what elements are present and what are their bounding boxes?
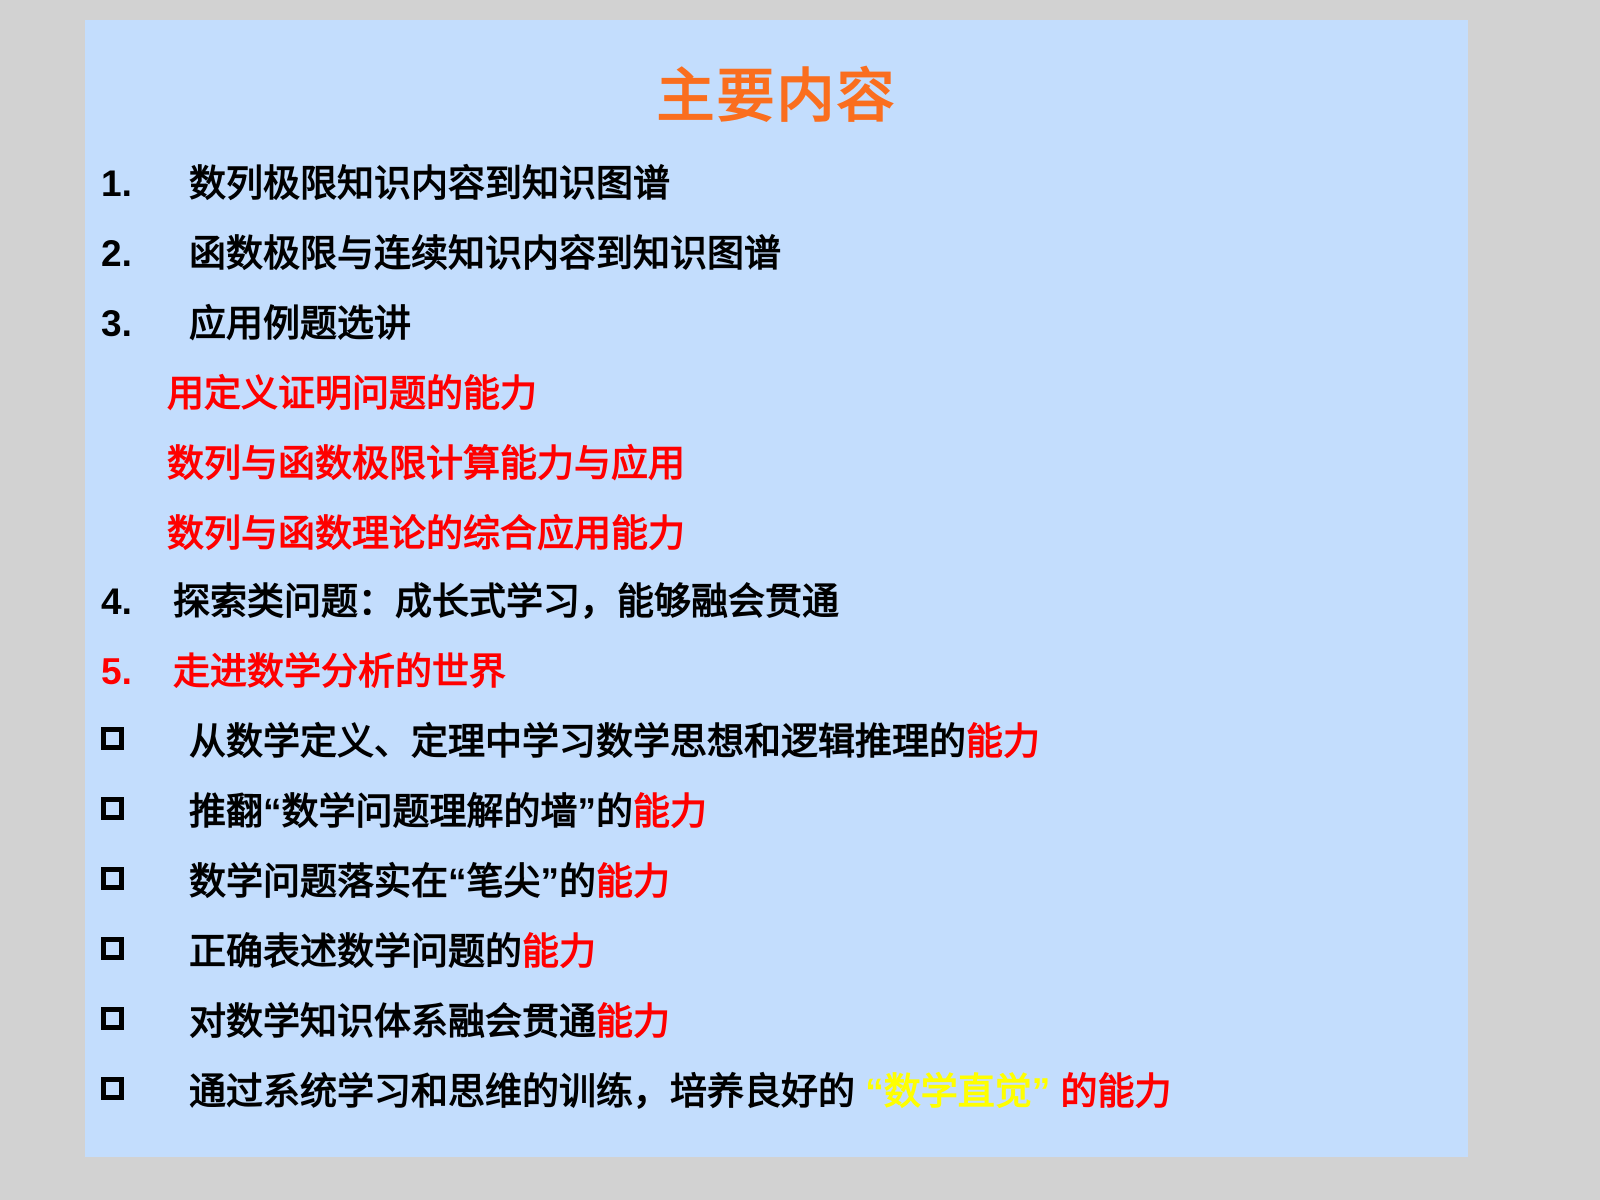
- checkbox-icon: [101, 871, 189, 894]
- list-item: 数学问题落实在“笔尖”的能力: [85, 863, 1468, 933]
- list-item: 3.应用例题选讲: [85, 305, 1468, 375]
- list-item-label: 推翻“数学问题理解的墙”的能力: [189, 793, 707, 830]
- text-run: 通过系统学习和思维的训练，培养良好的: [189, 1071, 865, 1112]
- list-item: 4.探索类问题：成长式学习，能够融会贯通: [85, 583, 1468, 653]
- list-item: 1.数列极限知识内容到知识图谱: [85, 165, 1468, 235]
- list-item-label: 应用例题选讲: [189, 305, 411, 342]
- list-item: 数列与函数理论的综合应用能力: [85, 515, 1468, 585]
- list-item-label: 数列极限知识内容到知识图谱: [189, 165, 670, 202]
- text-run: 用定义证明问题的能力: [167, 373, 537, 414]
- list-item-label: 数学问题落实在“笔尖”的能力: [189, 863, 670, 900]
- text-run: 推翻“数学问题理解的墙”的: [189, 791, 633, 832]
- presentation-slide: 主要内容 1.数列极限知识内容到知识图谱2.函数极限与连续知识内容到知识图谱3.…: [85, 20, 1468, 1157]
- list-item-label: 探索类问题：成长式学习，能够融会贯通: [173, 583, 839, 620]
- text-run: 能力: [966, 721, 1040, 762]
- list-item-label: 数列与函数极限计算能力与应用: [167, 445, 685, 482]
- list-item-label: 数列与函数理论的综合应用能力: [167, 515, 685, 552]
- text-run: 数列与函数极限计算能力与应用: [167, 443, 685, 484]
- list-item: 数列与函数极限计算能力与应用: [85, 445, 1468, 515]
- list-item: 推翻“数学问题理解的墙”的能力: [85, 793, 1468, 863]
- list-item-label: 通过系统学习和思维的训练，培养良好的 “数学直觉” 的能力: [189, 1073, 1172, 1110]
- checkbox-icon: [101, 1011, 189, 1034]
- list-item-number: 4.: [101, 583, 173, 620]
- text-run: 走进数学分析的世界: [173, 651, 506, 692]
- hollow-square-icon: [101, 797, 124, 820]
- text-run: 数列极限知识内容到知识图谱: [189, 163, 670, 204]
- text-run: 应用例题选讲: [189, 303, 411, 344]
- hollow-square-icon: [101, 937, 124, 960]
- list-item-label: 对数学知识体系融会贯通能力: [189, 1003, 670, 1040]
- list-item: 2.函数极限与连续知识内容到知识图谱: [85, 235, 1468, 305]
- text-run: 从数学定义、定理中学习数学思想和逻辑推理的: [189, 721, 966, 762]
- hollow-square-icon: [101, 727, 124, 750]
- text-run: 能力: [522, 931, 596, 972]
- page-title: 主要内容: [85, 68, 1468, 126]
- text-run: 能力: [633, 791, 707, 832]
- list-item: 正确表述数学问题的能力: [85, 933, 1468, 1003]
- text-run: 数学问题落实在“笔尖”的: [189, 861, 596, 902]
- text-run: 能力: [596, 1001, 670, 1042]
- hollow-square-icon: [101, 867, 124, 890]
- list-item-number: 2.: [101, 235, 189, 272]
- hollow-square-icon: [101, 1007, 124, 1030]
- text-run: 探索类问题：成长式学习，能够融会贯通: [173, 581, 839, 622]
- text-run: 正确表述数学问题的: [189, 931, 522, 972]
- checkbox-icon: [101, 941, 189, 964]
- list-item: 从数学定义、定理中学习数学思想和逻辑推理的能力: [85, 723, 1468, 793]
- text-run: 的能力: [1050, 1071, 1171, 1112]
- text-run: 能力: [596, 861, 670, 902]
- text-run: 对数学知识体系融会贯通: [189, 1001, 596, 1042]
- list-item-label: 用定义证明问题的能力: [167, 375, 537, 412]
- checkbox-icon: [101, 731, 189, 754]
- checkbox-icon: [101, 801, 189, 824]
- list-item: 对数学知识体系融会贯通能力: [85, 1003, 1468, 1073]
- list-item-label: 走进数学分析的世界: [173, 653, 506, 690]
- text-run: “数学直觉”: [865, 1071, 1050, 1112]
- list-item-label: 函数极限与连续知识内容到知识图谱: [189, 235, 781, 272]
- list-item-label: 正确表述数学问题的能力: [189, 933, 596, 970]
- text-run: 函数极限与连续知识内容到知识图谱: [189, 233, 781, 274]
- checkbox-icon: [101, 1081, 189, 1104]
- list-item: 用定义证明问题的能力: [85, 375, 1468, 445]
- list-item-number: 3.: [101, 305, 189, 342]
- content-list: 1.数列极限知识内容到知识图谱2.函数极限与连续知识内容到知识图谱3.应用例题选…: [85, 165, 1468, 1143]
- list-item-number: 5.: [101, 653, 173, 690]
- list-item-number: 1.: [101, 165, 189, 202]
- list-item: 通过系统学习和思维的训练，培养良好的 “数学直觉” 的能力: [85, 1073, 1468, 1143]
- list-item: 5.走进数学分析的世界: [85, 653, 1468, 723]
- text-run: 数列与函数理论的综合应用能力: [167, 513, 685, 554]
- hollow-square-icon: [101, 1077, 124, 1100]
- list-item-label: 从数学定义、定理中学习数学思想和逻辑推理的能力: [189, 723, 1040, 760]
